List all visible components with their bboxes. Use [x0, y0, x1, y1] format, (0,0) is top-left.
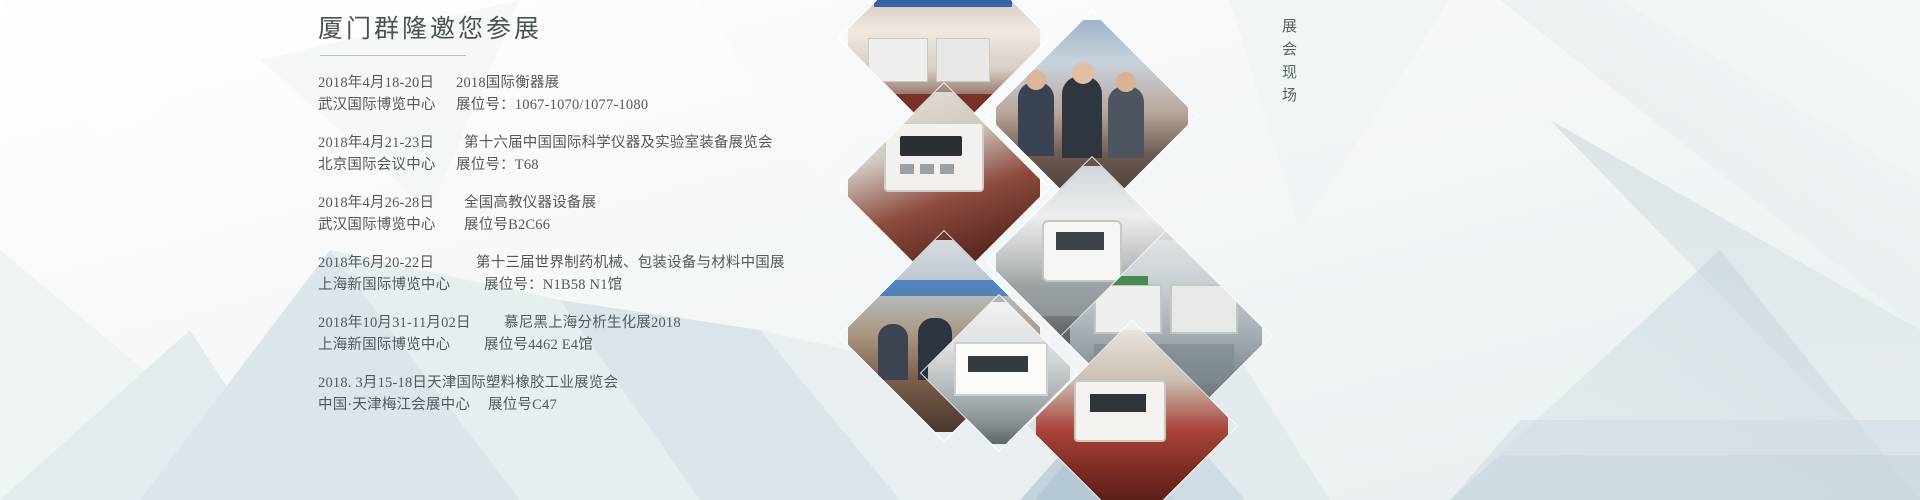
event-booth: 展位号：T68 — [456, 154, 539, 176]
event-venue: 武汉国际博览中心 — [318, 214, 446, 236]
event-row-primary: 2018年10月31-11月02日慕尼黑上海分析生化展2018 — [318, 312, 1078, 334]
event-name: 第十三届世界制药机械、包装设备与材料中国展 — [476, 252, 785, 274]
event-date: 2018年10月31-11月02日 — [318, 312, 486, 334]
event-date: 2018年4月18-20日 — [318, 72, 438, 94]
event-row-primary: 2018年4月26-28日全国高教仪器设备展 — [318, 192, 1078, 214]
event-name: 慕尼黑上海分析生化展2018 — [504, 312, 681, 334]
event-booth: 展位号B2C66 — [464, 214, 550, 236]
event-item[interactable]: 2018年6月20-22日第十三届世界制药机械、包装设备与材料中国展 上海新国际… — [318, 252, 1078, 296]
event-name: 全国高教仪器设备展 — [464, 192, 596, 214]
event-item[interactable]: 2018年4月21-23日第十六届中国国际科学仪器及实验室装备展览会 北京国际会… — [318, 132, 1078, 176]
vertical-section-label: 展会现场 — [1278, 18, 1299, 110]
event-name: 第十六届中国国际科学仪器及实验室装备展览会 — [464, 132, 773, 154]
event-row-secondary: 中国·天津梅江会展中心展位号C47 — [318, 394, 1078, 416]
exhibition-banner: 厦门群隆邀您参展 2018年4月18-20日2018国际衡器展 武汉国际博览中心… — [0, 0, 1920, 500]
page-title: 厦门群隆邀您参展 — [318, 14, 1078, 51]
event-date: 2018年6月20-22日 — [318, 252, 458, 274]
event-venue: 上海新国际博览中心 — [318, 334, 466, 356]
event-row-primary: 2018年4月21-23日第十六届中国国际科学仪器及实验室装备展览会 — [318, 132, 1078, 154]
event-row-secondary: 上海新国际博览中心展位号：N1B58 N1馆 — [318, 274, 1078, 296]
event-booth: 展位号C47 — [488, 394, 557, 416]
event-row-secondary: 武汉国际博览中心展位号B2C66 — [318, 214, 1078, 236]
event-item[interactable]: 2018年10月31-11月02日慕尼黑上海分析生化展2018 上海新国际博览中… — [318, 312, 1078, 356]
event-booth: 展位号：1067-1070/1077-1080 — [456, 94, 648, 116]
event-row-primary: 2018年4月18-20日2018国际衡器展 — [318, 72, 1078, 94]
event-row-secondary: 上海新国际博览中心展位号4462 E4馆 — [318, 334, 1078, 356]
event-item[interactable]: 2018年4月18-20日2018国际衡器展 武汉国际博览中心展位号：1067-… — [318, 72, 1078, 116]
event-row-primary: 2018年6月20-22日第十三届世界制药机械、包装设备与材料中国展 — [318, 252, 1078, 274]
event-date: 2018年4月26-28日 — [318, 192, 446, 214]
event-booth: 展位号4462 E4馆 — [484, 334, 593, 356]
event-venue: 上海新国际博览中心 — [318, 274, 466, 296]
event-row-primary: 2018. 3月15-18日天津国际塑料橡胶工业展览会 — [318, 372, 1078, 394]
event-item[interactable]: 2018年4月26-28日全国高教仪器设备展 武汉国际博览中心展位号B2C66 — [318, 192, 1078, 236]
event-date: 2018年4月21-23日 — [318, 132, 446, 154]
event-list-panel: 厦门群隆邀您参展 2018年4月18-20日2018国际衡器展 武汉国际博览中心… — [318, 14, 1078, 494]
event-row-secondary: 北京国际会议中心展位号：T68 — [318, 154, 1078, 176]
title-divider — [320, 55, 466, 56]
event-booth: 展位号：N1B58 N1馆 — [484, 274, 622, 296]
event-row-secondary: 武汉国际博览中心展位号：1067-1070/1077-1080 — [318, 94, 1078, 116]
event-venue: 中国·天津梅江会展中心 — [318, 394, 470, 416]
event-item[interactable]: 2018. 3月15-18日天津国际塑料橡胶工业展览会 中国·天津梅江会展中心展… — [318, 372, 1078, 416]
event-name: 2018国际衡器展 — [456, 72, 559, 94]
event-venue: 武汉国际博览中心 — [318, 94, 438, 116]
event-venue: 北京国际会议中心 — [318, 154, 438, 176]
